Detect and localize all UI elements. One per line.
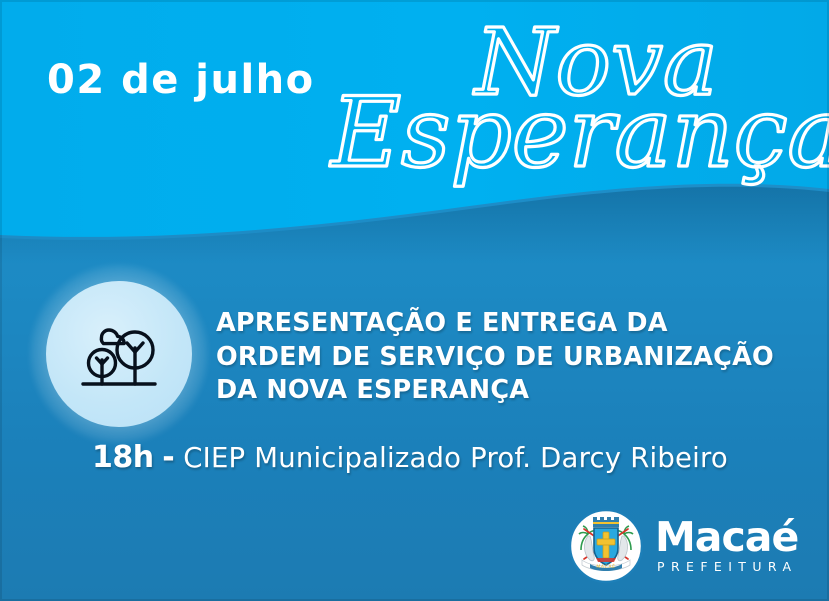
headline-line-1: APRESENTAÇÃO E ENTREGA DA	[216, 307, 816, 341]
tree-icon-badge	[46, 281, 192, 427]
event-venue: CIEP Municipalizado Prof. Darcy Ribeiro	[183, 442, 728, 474]
venue-separator: -	[162, 440, 174, 475]
badge-circle	[46, 281, 192, 427]
event-poster: 02 de julho Nova Esperança	[0, 0, 829, 601]
event-time: 18h	[92, 440, 154, 475]
brand-subtitle: PREFEITURA	[657, 561, 798, 574]
macae-brand-lockup: MACAÉ Macaé PREFEITURA	[568, 508, 798, 584]
trees-and-cloud-icon	[73, 314, 165, 394]
macae-coat-of-arms-icon: MACAÉ	[568, 508, 644, 584]
headline-line-3: DA NOVA ESPERANÇA	[216, 374, 816, 408]
brand-name: Macaé	[655, 518, 798, 557]
time-and-venue: 18h - CIEP Municipalizado Prof. Darcy Ri…	[92, 443, 728, 473]
headline: APRESENTAÇÃO E ENTREGA DA ORDEM DE SERVI…	[216, 307, 816, 408]
brand-text: Macaé PREFEITURA	[655, 518, 798, 574]
nova-esperanca-script-logo: Nova Esperança	[325, 8, 795, 183]
event-date: 02 de julho	[47, 60, 315, 100]
script-line-esperanca: Esperança	[329, 77, 829, 189]
headline-line-2: ORDEM DE SERVIÇO DE URBANIZAÇÃO	[216, 341, 816, 375]
